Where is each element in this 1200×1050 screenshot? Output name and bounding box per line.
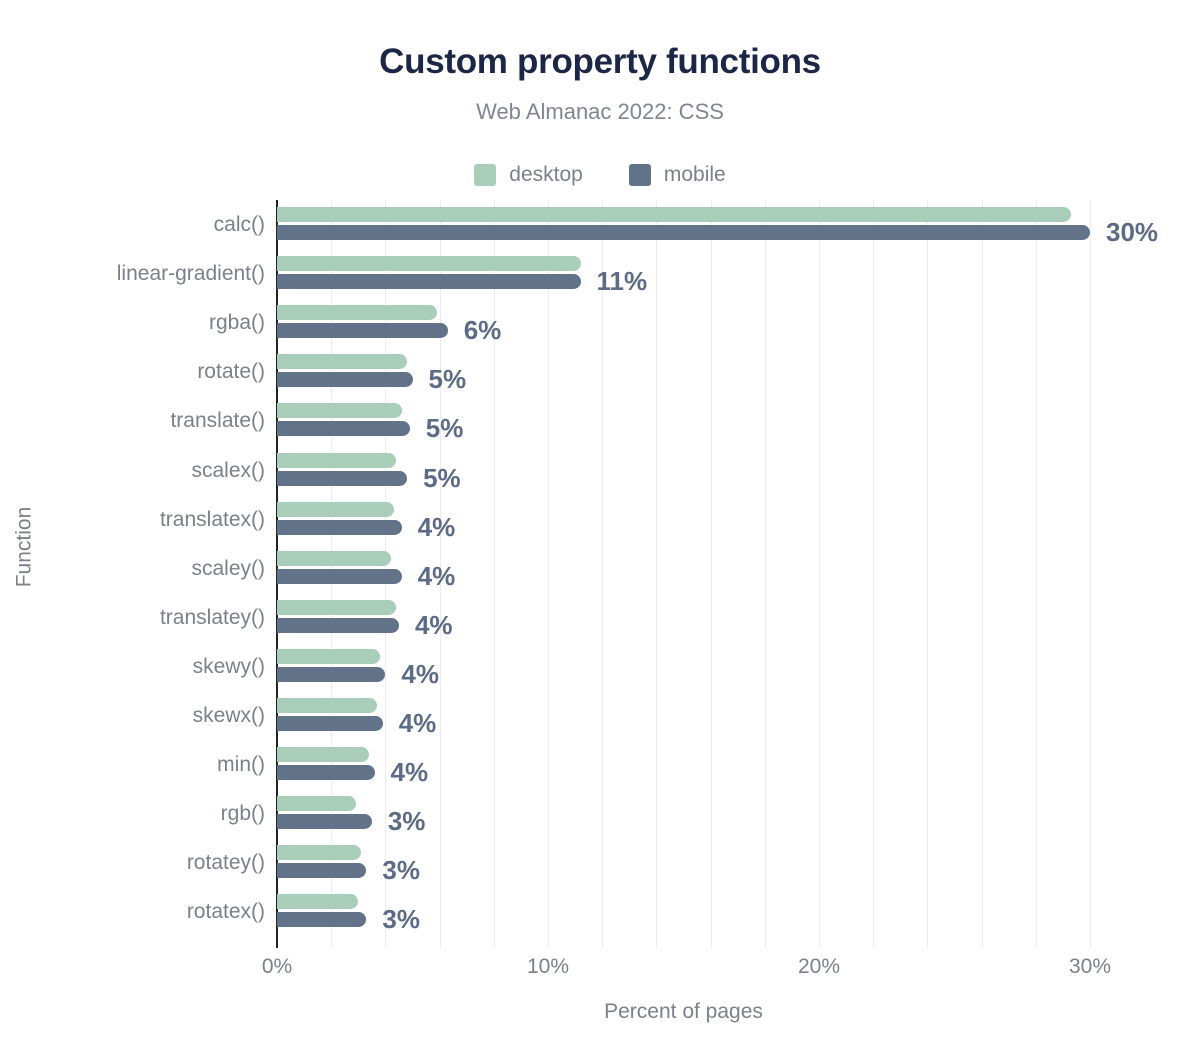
bar-desktop[interactable] bbox=[277, 354, 407, 369]
bar-row: 3% bbox=[277, 789, 1090, 838]
bar-desktop[interactable] bbox=[277, 502, 394, 517]
y-tick-label: min() bbox=[5, 753, 265, 777]
bar-row: 30% bbox=[277, 200, 1090, 249]
y-tick-label: translatex() bbox=[5, 508, 265, 532]
bar-value-label: 5% bbox=[426, 413, 464, 444]
y-tick-label: rgb() bbox=[5, 802, 265, 826]
bar-mobile[interactable] bbox=[277, 323, 448, 338]
gridline bbox=[1090, 200, 1091, 948]
bar-desktop[interactable] bbox=[277, 453, 396, 468]
bar-desktop[interactable] bbox=[277, 796, 356, 811]
bar-desktop[interactable] bbox=[277, 305, 437, 320]
bar-row: 4% bbox=[277, 495, 1090, 544]
bar-desktop[interactable] bbox=[277, 698, 377, 713]
bar-rows: 30%11%6%5%5%5%4%4%4%4%4%4%3%3%3% bbox=[277, 200, 1090, 948]
bar-mobile[interactable] bbox=[277, 569, 402, 584]
bar-value-label: 5% bbox=[423, 463, 461, 494]
bar-row: 4% bbox=[277, 691, 1090, 740]
bar-desktop[interactable] bbox=[277, 600, 396, 615]
bar-value-label: 4% bbox=[418, 561, 456, 592]
bar-desktop[interactable] bbox=[277, 403, 402, 418]
y-axis-title: Function bbox=[12, 507, 36, 588]
chart-title: Custom property functions bbox=[0, 42, 1200, 82]
legend-label: desktop bbox=[509, 163, 583, 187]
legend-swatch-icon bbox=[629, 164, 651, 186]
y-tick-label: rotate() bbox=[5, 360, 265, 384]
bar-mobile[interactable] bbox=[277, 372, 413, 387]
y-tick-label: skewy() bbox=[5, 655, 265, 679]
y-tick-label: calc() bbox=[5, 213, 265, 237]
bar-mobile[interactable] bbox=[277, 716, 383, 731]
bar-desktop[interactable] bbox=[277, 207, 1071, 222]
bar-value-label: 11% bbox=[597, 266, 648, 297]
x-tick-label: 30% bbox=[1069, 955, 1111, 979]
bar-value-label: 4% bbox=[418, 512, 456, 543]
bar-mobile[interactable] bbox=[277, 471, 407, 486]
bar-mobile[interactable] bbox=[277, 274, 581, 289]
bar-row: 5% bbox=[277, 347, 1090, 396]
legend-item-desktop[interactable]: desktop bbox=[474, 163, 583, 187]
bar-value-label: 4% bbox=[401, 659, 439, 690]
chart-subtitle: Web Almanac 2022: CSS bbox=[0, 99, 1200, 125]
y-tick-label: rotatex() bbox=[5, 900, 265, 924]
bar-row: 5% bbox=[277, 396, 1090, 445]
x-tick-label: 20% bbox=[798, 955, 840, 979]
x-axis-tick-labels: 0%10%20%30% bbox=[277, 955, 1090, 995]
bar-mobile[interactable] bbox=[277, 225, 1090, 240]
bar-value-label: 3% bbox=[388, 806, 426, 837]
bar-value-label: 3% bbox=[382, 855, 420, 886]
legend-label: mobile bbox=[664, 163, 726, 187]
bar-desktop[interactable] bbox=[277, 894, 358, 909]
y-tick-label: scaley() bbox=[5, 557, 265, 581]
y-tick-label: scalex() bbox=[5, 459, 265, 483]
bar-desktop[interactable] bbox=[277, 649, 380, 664]
y-tick-label: rotatey() bbox=[5, 851, 265, 875]
bar-desktop[interactable] bbox=[277, 551, 391, 566]
legend-swatch-icon bbox=[474, 164, 496, 186]
bar-mobile[interactable] bbox=[277, 618, 399, 633]
y-tick-label: linear-gradient() bbox=[5, 262, 265, 286]
y-tick-label: translatey() bbox=[5, 606, 265, 630]
bar-mobile[interactable] bbox=[277, 667, 385, 682]
bar-row: 4% bbox=[277, 544, 1090, 593]
chart-legend: desktopmobile bbox=[0, 163, 1200, 187]
bar-row: 3% bbox=[277, 838, 1090, 887]
bar-row: 4% bbox=[277, 740, 1090, 789]
x-tick-label: 10% bbox=[527, 955, 569, 979]
bar-value-label: 4% bbox=[391, 757, 429, 788]
bar-value-label: 4% bbox=[415, 610, 453, 641]
bar-chart: Custom property functions Web Almanac 20… bbox=[0, 0, 1200, 1050]
bar-value-label: 4% bbox=[399, 708, 437, 739]
bar-row: 6% bbox=[277, 298, 1090, 347]
bar-mobile[interactable] bbox=[277, 863, 366, 878]
bar-row: 5% bbox=[277, 446, 1090, 495]
bar-desktop[interactable] bbox=[277, 747, 369, 762]
y-tick-label: translate() bbox=[5, 409, 265, 433]
x-axis-title: Percent of pages bbox=[277, 1000, 1090, 1024]
legend-item-mobile[interactable]: mobile bbox=[629, 163, 726, 187]
bar-mobile[interactable] bbox=[277, 520, 402, 535]
bar-value-label: 6% bbox=[464, 315, 502, 346]
bar-value-label: 30% bbox=[1106, 217, 1158, 248]
bar-mobile[interactable] bbox=[277, 912, 366, 927]
bar-row: 3% bbox=[277, 887, 1090, 936]
bar-row: 4% bbox=[277, 642, 1090, 691]
bar-value-label: 5% bbox=[429, 364, 467, 395]
bar-desktop[interactable] bbox=[277, 845, 361, 860]
bar-row: 4% bbox=[277, 593, 1090, 642]
bar-mobile[interactable] bbox=[277, 421, 410, 436]
bar-row: 11% bbox=[277, 249, 1090, 298]
bar-mobile[interactable] bbox=[277, 765, 375, 780]
y-tick-label: skewx() bbox=[5, 704, 265, 728]
bar-desktop[interactable] bbox=[277, 256, 581, 271]
y-tick-label: rgba() bbox=[5, 311, 265, 335]
plot-area: 30%11%6%5%5%5%4%4%4%4%4%4%3%3%3% bbox=[277, 200, 1090, 948]
bar-mobile[interactable] bbox=[277, 814, 372, 829]
x-tick-label: 0% bbox=[262, 955, 292, 979]
bar-value-label: 3% bbox=[382, 904, 420, 935]
y-axis-tick-labels: calc()linear-gradient()rgba()rotate()tra… bbox=[0, 200, 265, 948]
